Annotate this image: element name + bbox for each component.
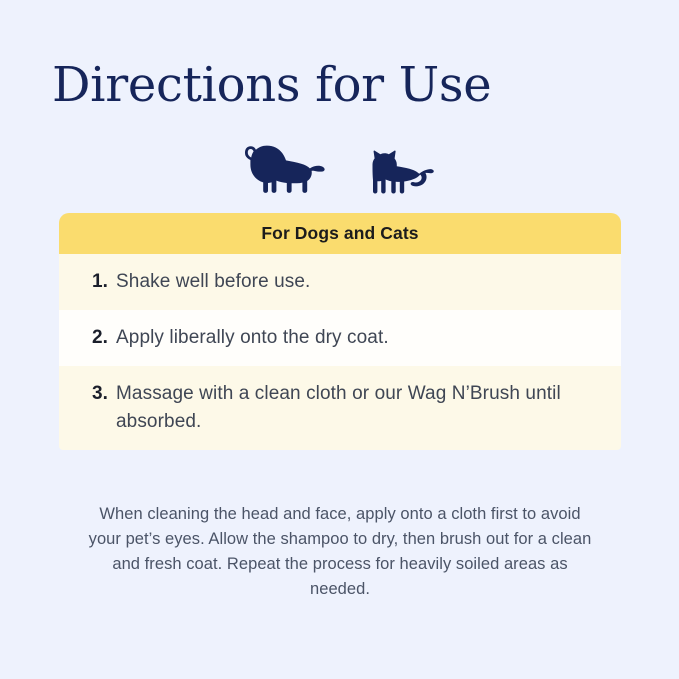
step-text: Massage with a clean cloth or our Wag N’… (116, 380, 585, 436)
step-number: 2. (92, 324, 116, 352)
footer-note: When cleaning the head and face, apply o… (85, 502, 595, 602)
step-text: Apply liberally onto the dry coat. (116, 324, 389, 352)
list-item: 2. Apply liberally onto the dry coat. (59, 310, 621, 366)
step-number: 3. (92, 380, 116, 408)
list-item: 1. Shake well before use. (59, 254, 621, 310)
step-text: Shake well before use. (116, 268, 310, 296)
directions-for-use-panel: Directions for Use For Dogs and Cats 1. … (0, 0, 679, 679)
list-item: 3. Massage with a clean cloth or our Wag… (59, 366, 621, 450)
card-header-label: For Dogs and Cats (261, 223, 418, 244)
dog-silhouette-icon (239, 142, 327, 194)
cat-silhouette-icon (369, 150, 441, 194)
step-number: 1. (92, 268, 116, 296)
directions-card: For Dogs and Cats 1. Shake well before u… (59, 213, 621, 450)
page-title: Directions for Use (52, 56, 491, 114)
pet-icons-row (0, 138, 679, 194)
card-header: For Dogs and Cats (59, 213, 621, 254)
